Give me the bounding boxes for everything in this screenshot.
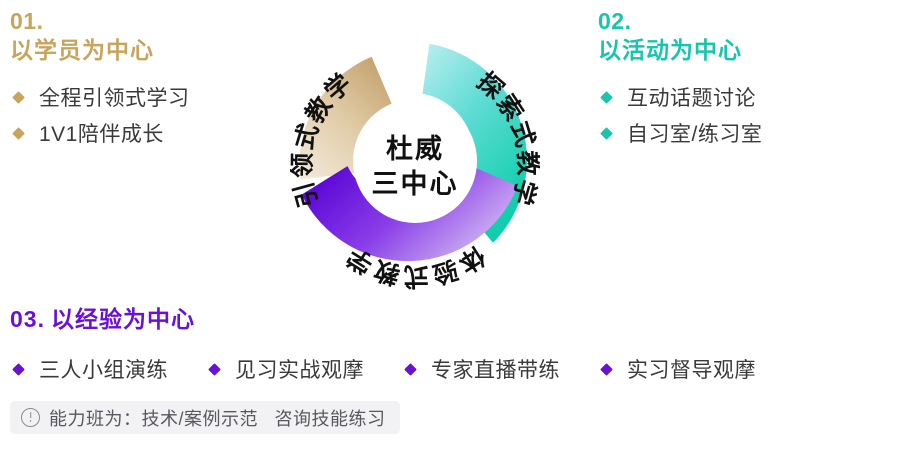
section-03: 03.以经验为中心 三人小组演练 见习实战观摩 专家直播带练 实习督导观摩 (10, 300, 890, 384)
bullet-label: 专家直播带练 (431, 354, 560, 384)
section-02-number: 02. (598, 8, 898, 34)
section-03-title: 以经验为中心 (51, 306, 195, 332)
list-item: 实习督导观摩 (598, 354, 756, 384)
exclamation-circle-icon (21, 408, 40, 427)
bullet-label: 实习督导观摩 (627, 354, 756, 384)
donut-center-line1: 杜威 (386, 134, 444, 164)
diamond-bullet-icon (600, 363, 613, 376)
diamond-bullet-icon (404, 363, 417, 376)
three-centers-donut-diagram: 引领式教学 探索式教学 体验式教学 杜威 三中心 (290, 18, 540, 303)
bullet-label: 1V1陪伴成长 (39, 118, 164, 148)
section-01-title: 以学员为中心 (10, 36, 265, 65)
bullet-label: 三人小组演练 (39, 354, 168, 384)
diamond-bullet-icon (12, 127, 25, 140)
section-02: 02. 以活动为中心 互动话题讨论 自习室/练习室 (598, 8, 898, 151)
bullet-label: 自习室/练习室 (627, 118, 762, 148)
list-item: 专家直播带练 (402, 354, 560, 384)
section-03-bullet-list: 三人小组演练 见习实战观摩 专家直播带练 实习督导观摩 (10, 354, 890, 384)
bullet-label: 全程引领式学习 (39, 82, 190, 112)
section-01: 01. 以学员为中心 全程引领式学习 1V1陪伴成长 (10, 8, 265, 151)
list-item: 互动话题讨论 (598, 79, 898, 115)
diamond-bullet-icon (12, 91, 25, 104)
list-item: 全程引领式学习 (10, 79, 265, 115)
list-item: 三人小组演练 (10, 354, 168, 384)
diamond-bullet-icon (208, 363, 221, 376)
list-item: 见习实战观摩 (206, 354, 364, 384)
section-03-number: 03. (10, 306, 45, 332)
donut-svg: 引领式教学 探索式教学 体验式教学 杜威 三中心 (290, 18, 540, 303)
bullet-label: 互动话题讨论 (627, 82, 756, 112)
diamond-bullet-icon (600, 91, 613, 104)
footer-note: 能力班为：技术/案例示范 咨询技能练习 (10, 401, 400, 434)
footer-note-text: 能力班为：技术/案例示范 咨询技能练习 (49, 405, 386, 431)
section-02-title: 以活动为中心 (598, 36, 898, 65)
section-01-number: 01. (10, 8, 265, 34)
section-02-bullet-list: 互动话题讨论 自习室/练习室 (598, 79, 898, 151)
diamond-bullet-icon (600, 127, 613, 140)
diamond-bullet-icon (12, 363, 25, 376)
bullet-label: 见习实战观摩 (235, 354, 364, 384)
donut-center-line2: 三中心 (372, 169, 459, 199)
section-01-bullet-list: 全程引领式学习 1V1陪伴成长 (10, 79, 265, 151)
list-item: 1V1陪伴成长 (10, 115, 265, 151)
section-03-heading: 03.以经验为中心 (10, 300, 890, 334)
list-item: 自习室/练习室 (598, 115, 898, 151)
